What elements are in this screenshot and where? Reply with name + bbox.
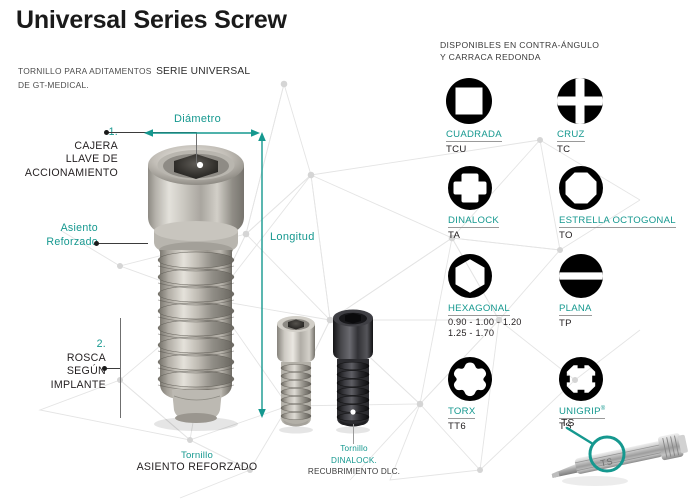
drive-code-estrella-octogonal: TO [559,230,679,241]
caption-dinalock-name: DINALOCK. [295,455,413,467]
diameter-label: Diámetro [174,113,221,125]
callout-asiento: Asiento Reforzado [6,222,98,249]
drive-name-cuadrada: CUADRADA [446,129,502,142]
callout-rosca-dot [102,366,107,371]
screwdriver-tip-label: TS [561,417,574,429]
drive-code-plana: TP [559,318,679,329]
drive-types-header-line2: Y CARRACA REDONDA [440,52,599,64]
dinalock-screw-illustration [328,302,378,435]
main-screw-illustration [130,132,262,432]
torx-icon [448,357,492,401]
caption-dinalock-coating: RECUBRIMIENTO DLC. [295,466,413,478]
callout-cajera-line1: CAJERA [6,140,118,154]
drive-cell-cruz[interactable]: CRUZ TC [557,78,677,155]
hexagonal-icon [448,254,492,298]
callout-asiento-dot [94,241,99,246]
callout-asiento-leader [98,243,148,244]
drive-name-torx: TORX [448,406,475,419]
callout-rosca-bracket [120,318,121,418]
drive-name-unigrip-text: UNIGRIP [559,406,601,417]
drive-cell-dinalock[interactable]: DINALOCK TA [448,166,568,241]
drive-types-header-line1: DISPONIBLES EN CONTRA-ÁNGULO [440,40,599,52]
drive-code-cruz: TC [557,144,677,155]
caption-main-screw-dark: ASIENTO REFORZADO [112,462,282,474]
callout-cajera-line3: ACCIONAMIENTO [6,167,118,181]
callout-asiento-line1: Asiento [6,222,98,236]
drive-cell-hexagonal[interactable]: HEXAGONAL 0.90 - 1.00 - 1.20 1.25 - 1.70 [448,254,568,339]
infographic-page: Universal Series Screw TORNILLO PARA ADI… [0,0,700,500]
small-screw-illustration [272,310,320,435]
caption-main-screw-teal: Tornillo [112,450,282,462]
drive-name-hexagonal: HEXAGONAL [448,303,510,316]
callout-cajera: 1. CAJERA LLAVE DE ACCIONAMIENTO [6,126,118,180]
callout-cajera-line2: LLAVE DE [6,153,118,167]
callout-rosca-leader [106,368,120,369]
cruz-icon [557,78,603,124]
cuadrada-icon [446,78,492,124]
drive-name-plana: PLANA [559,303,592,316]
subtitle-line2: DE GT-MEDICAL. [18,80,89,90]
drive-dims-hexagonal: 0.90 - 1.00 - 1.20 1.25 - 1.70 [448,317,568,339]
drive-name-dinalock: DINALOCK [448,215,499,228]
callout-asiento-line2: Reforzado [6,236,98,250]
callout-cajera-leader [108,132,197,133]
drive-name-estrella-octogonal: ESTRELLA OCTOGONAL [559,215,676,228]
drive-name-unigrip-sup: ® [601,406,606,412]
screwdriver-illustration: TS [545,418,700,498]
drive-cell-cuadrada[interactable]: CUADRADA TCU [446,78,566,155]
caption-dinalock-screw: Tornillo DINALOCK. RECUBRIMIENTO DLC. [295,443,413,478]
callout-cajera-dot [104,130,109,135]
drive-cell-estrella-octogonal[interactable]: ESTRELLA OCTOGONAL TO [559,166,679,241]
length-label: Longitud [270,231,315,243]
caption-dinalock-teal: Tornillo [295,443,413,455]
callout-cajera-leader-vertical [196,132,197,164]
estrella-octogonal-icon [559,166,603,210]
subtitle-line1-small: TORNILLO PARA ADITAMENTOS [18,66,152,76]
dinalock-icon [448,166,492,210]
subtitle-block: TORNILLO PARA ADITAMENTOS SERIE UNIVERSA… [18,64,250,91]
drive-code-dinalock: TA [448,230,568,241]
caption-dinalock-leader [353,424,354,444]
callout-rosca-number: 2. [97,338,106,350]
callout-rosca-line3: IMPLANTE [6,379,106,393]
callout-rosca-line1: ROSCA [6,352,106,366]
callout-rosca-line2: SEGÚN [6,365,106,379]
drive-code-cuadrada: TCU [446,144,566,155]
unigrip-icon [559,357,603,401]
subtitle-line1-big: SERIE UNIVERSAL [156,66,250,77]
plana-icon [559,254,603,298]
page-title: Universal Series Screw [16,6,287,35]
drive-name-cruz: CRUZ [557,129,585,142]
drive-types-header: DISPONIBLES EN CONTRA-ÁNGULO Y CARRACA R… [440,40,599,63]
caption-main-screw: Tornillo ASIENTO REFORZADO [112,450,282,473]
callout-rosca: 2. ROSCA SEGÚN IMPLANTE [6,338,106,392]
drive-cell-plana[interactable]: PLANA TP [559,254,679,329]
